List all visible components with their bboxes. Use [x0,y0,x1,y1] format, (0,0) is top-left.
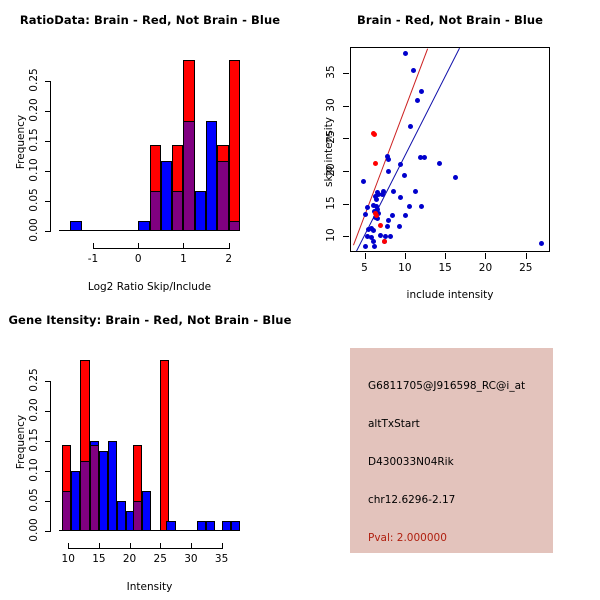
histogram-bar-overlap [80,461,89,531]
y-axis-line [50,81,51,231]
x-tick [445,253,446,259]
histogram-bar-overlap [62,491,71,531]
x-tick [68,543,69,549]
x-tick-label: 2 [209,253,249,265]
x-tick [99,543,100,549]
x-tick-label: 20 [465,262,505,274]
y-tick-label: 0.25 [28,357,40,403]
y-tick [343,171,349,172]
gene-histogram-bars [59,360,240,531]
x-tick-label: 5 [345,262,385,274]
scatter-point [378,223,383,228]
scatter-point [363,212,368,217]
scatter-point [391,189,396,194]
ratio-histogram-bars [59,60,240,231]
x-tick-label: -1 [73,253,113,265]
y-tick [45,81,51,82]
y-tick-label: 0.25 [28,57,40,103]
scatter-point [363,244,368,249]
scatter-point [386,169,391,174]
x-axis-line [93,248,229,249]
plot-page: RatioData: Brain - Red, Not Brain - Blue… [0,0,600,600]
y-tick [343,106,349,107]
scatter-point [390,213,395,218]
x-tick [93,243,94,249]
scatter-point [403,51,408,56]
scatter-point [419,204,424,209]
histogram-bar-overlap [172,191,183,231]
y-tick [45,201,51,202]
gene-x-axis-title: Intensity [59,581,240,593]
histogram-bar [195,191,206,231]
scatter-point [361,179,366,184]
scatter-point [411,68,416,73]
scatter-point [371,239,376,244]
scatter-point [419,89,424,94]
gene-info-panel: G6811705@J916598_RC@i_at altTxStart D430… [300,300,600,600]
histogram-bar-overlap [217,161,228,231]
histogram-bar [142,491,151,531]
x-tick [130,543,131,549]
scatter-point [398,195,403,200]
gene-histogram-panel: Gene Itensity: Brain - Red, Not Brain - … [0,300,300,600]
scatter-point [380,192,385,197]
x-tick-label: 35 [202,553,242,565]
x-tick-label: 0 [118,253,158,265]
histogram-bar [206,121,217,231]
locus-label: chr12.6296-2.17 [368,494,455,506]
y-tick-label: 10 [325,218,337,252]
histogram-bar [160,360,169,531]
y-tick [343,204,349,205]
histogram-bar-overlap [150,191,161,231]
histogram-bar-overlap [133,501,142,531]
scatter-point [413,189,418,194]
x-tick [365,253,366,259]
x-tick [526,253,527,259]
scatter-point [407,204,412,209]
scatter-plotarea [350,47,550,252]
scatter-point [415,98,420,103]
scatter-point [437,161,442,166]
scatter-panel: Brain - Red, Not Brain - Blue 1015202530… [300,0,600,300]
x-tick [183,243,184,249]
histogram-bar [99,451,108,531]
y-tick-label: 35 [325,55,337,89]
scatter-point [374,197,379,202]
scatter-point [374,213,379,218]
scatter-point [402,173,407,178]
pval-label: Pval: 2.000000 [368,532,447,544]
ratio-x-axis-title: Log2 Ratio Skip/Include [59,281,240,293]
y-tick [45,441,51,442]
scatter-point [365,205,370,210]
scatter-point [403,213,408,218]
y-tick [45,531,51,532]
scatter-point [397,224,402,229]
ratio-histogram-title: RatioData: Brain - Red, Not Brain - Blue [0,13,300,27]
x-axis-line [68,548,221,549]
histogram-bar [117,501,126,531]
y-tick [45,381,51,382]
histogram-bar-overlap [90,445,99,531]
y-tick [343,236,349,237]
x-tick [222,543,223,549]
y-tick [45,231,51,232]
scatter-point [388,234,393,239]
histogram-bar-overlap [183,121,194,231]
y-tick [343,138,349,139]
scatter-point [539,241,544,246]
ratio-y-axis-title: Frequency [15,102,27,182]
x-tick [405,253,406,259]
histogram-bar [229,60,240,231]
y-tick [45,141,51,142]
scatter-point [398,162,403,167]
x-tick-label: 10 [385,262,425,274]
x-tick-label: 15 [425,262,465,274]
histogram-bar [108,441,117,531]
scatter-point [385,224,390,229]
scatter-point [372,244,377,249]
ratio-x-baseline [59,230,240,231]
scatter-point [408,124,413,129]
scatter-point [373,161,378,166]
gene-x-baseline [59,530,240,531]
x-tick [191,543,192,549]
y-tick [45,501,51,502]
scatter-point [372,132,377,137]
y-tick [343,73,349,74]
gene-info-box: G6811705@J916598_RC@i_at altTxStart D430… [350,348,553,553]
scatter-points [351,48,549,251]
scatter-title: Brain - Red, Not Brain - Blue [300,13,600,27]
scatter-point [386,157,391,162]
x-tick [229,243,230,249]
probe-id-label: G6811705@J916598_RC@i_at [368,380,525,392]
scatter-point [422,155,427,160]
y-tick [45,111,51,112]
event-type-label: altTxStart [368,418,420,430]
gene-symbol-label: D430033N04Rik [368,456,454,468]
gene-y-axis-title: Frequency [15,402,27,482]
ratio-histogram-panel: RatioData: Brain - Red, Not Brain - Blue… [0,0,300,300]
scatter-point [453,175,458,180]
x-tick-label: 25 [506,262,546,274]
y-tick [45,471,51,472]
x-tick [485,253,486,259]
x-tick-label: 1 [163,253,203,265]
scatter-point [371,228,376,233]
scatter-point [382,239,387,244]
ratio-histogram-plotarea [59,60,240,231]
x-tick [138,243,139,249]
gene-histogram-plotarea [59,360,240,531]
scatter-point [386,218,391,223]
histogram-bar [71,471,80,531]
y-tick [45,171,51,172]
y-axis-line [50,381,51,531]
y-tick [45,411,51,412]
histogram-bar [161,161,172,231]
gene-histogram-title: Gene Itensity: Brain - Red, Not Brain - … [0,313,300,327]
scatter-y-axis-title: skip intensity [323,107,335,197]
x-tick [160,543,161,549]
